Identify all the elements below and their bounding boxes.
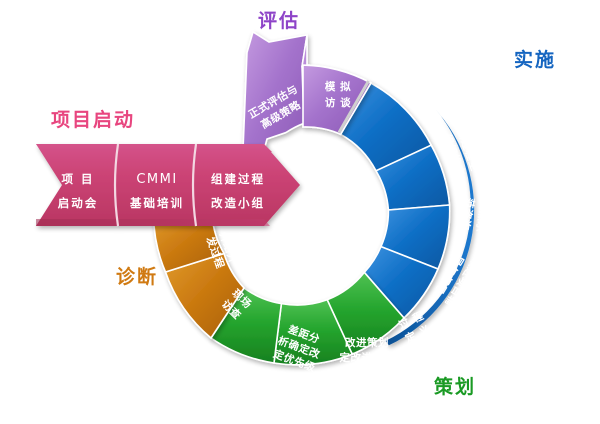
svg-text:改进策划: 改进策划	[345, 336, 389, 349]
pink-seg3-line2: 改造小组	[211, 196, 265, 210]
label-pilot-consulting: 试点示 范咨询	[458, 196, 491, 233]
pink-seg3-line1: 组建过程	[211, 172, 265, 186]
pink-bar-bottom-shade	[36, 219, 270, 226]
phase-project-start[interactable]: 项 目 启动会 CMMI 基础培训 组建过程 改造小组	[36, 144, 300, 226]
pink-seg1-line2: 启动会	[58, 196, 99, 210]
svg-text:定改进计划: 定改进计划	[339, 351, 395, 364]
phase-title-project-start: 项目启动	[51, 105, 135, 132]
phase-title-diagnosis: 诊断	[116, 262, 158, 289]
diagram-canvas: 项 目 启动会 CMMI 基础培训 组建过程 改造小组 正式评估与 高级策略 模…	[0, 0, 600, 424]
svg-text:模 拟: 模 拟	[325, 80, 351, 93]
phase-title-implementation: 实施	[514, 45, 556, 72]
process-cycle-svg: 项 目 启动会 CMMI 基础培训 组建过程 改造小组 正式评估与 高级策略 模…	[0, 0, 600, 424]
svg-text:访 谈: 访 谈	[325, 96, 351, 109]
phase-title-assessment: 评估	[258, 6, 300, 33]
pink-seg2-line2: 基础培训	[129, 196, 184, 210]
phase-title-planning: 策划	[434, 372, 476, 399]
label-org-rollout: 新过程全 组织推广	[440, 127, 481, 178]
pink-seg2-line1: CMMI	[136, 172, 177, 187]
pink-seg1-line1: 项 目	[61, 172, 94, 186]
svg-text:试点示: 试点示	[473, 199, 492, 234]
